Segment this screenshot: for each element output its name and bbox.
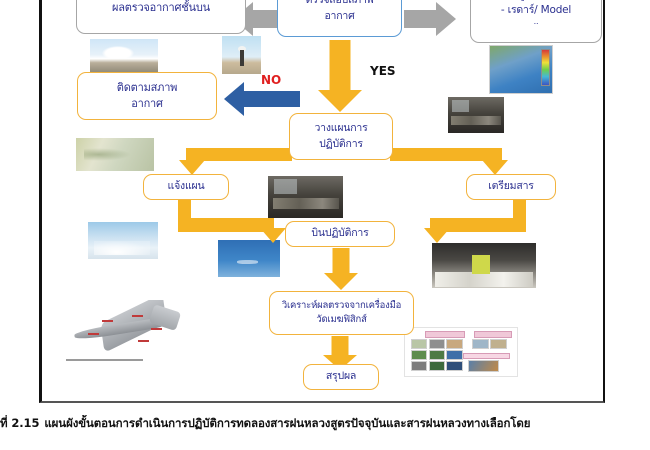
node-monitor-weather-line-1: ติดตามสภาพ xyxy=(117,80,177,96)
terrain-map-photo xyxy=(76,138,154,171)
cloud-sky-photo xyxy=(88,222,158,259)
label-yes: YES xyxy=(370,64,396,78)
node-announce-plan-line-1: แจ้งแผน xyxy=(168,179,205,194)
arrow-flight-to-analyze xyxy=(323,248,359,290)
node-prepare-agent[interactable]: เตรียมสาร xyxy=(466,174,556,200)
node-plan-operation-line-1: วางแผนการ xyxy=(314,121,367,136)
node-monitor-weather[interactable]: ติดตามสภาพ อากาศ xyxy=(77,72,217,120)
equipment-desk-photo xyxy=(448,97,504,133)
radar-color-scale xyxy=(541,49,550,86)
figure-page: ผลตรวจอากาศชั้นบน ตรวจสอบสภาพ อากาศ ข้อม… xyxy=(0,0,650,450)
balloon-release-photo xyxy=(222,36,261,74)
node-analyze-results-line-2: วัดเมฆฟิสิกส์ xyxy=(316,313,366,327)
node-analyze-results-line-1: วิเคราะห์ผลตรวจจากเครื่องมือ xyxy=(282,299,401,313)
node-plan-operation[interactable]: วางแผนการ ปฏิบัติการ xyxy=(289,113,393,160)
figure-caption: ที่ 2.15แผนผังขั้นตอนการดำเนินการปฏิบัติ… xyxy=(0,415,650,433)
node-image-data-line-3: .. xyxy=(534,19,539,25)
node-prepare-agent-line-1: เตรียมสาร xyxy=(488,179,533,194)
node-check-weather[interactable]: ตรวจสอบสภาพ อากาศ xyxy=(277,0,402,37)
node-summary[interactable]: สรุปผล xyxy=(303,364,379,390)
arrow-announce-to-flight xyxy=(178,200,286,246)
node-flight-operation-line-1: บินปฏิบัติการ xyxy=(311,226,368,241)
node-check-weather-line-2: อากาศ xyxy=(324,9,354,24)
arrow-yes-down xyxy=(318,40,362,112)
arrow-no-left xyxy=(224,82,300,116)
node-flight-operation[interactable]: บินปฏิบัติการ xyxy=(285,221,395,247)
node-upper-air-result[interactable]: ผลตรวจอากาศชั้นบน xyxy=(76,0,246,34)
node-image-data[interactable]: ข้อมูลภาพถ่าย - เรดาร์/ Model .. xyxy=(470,0,602,43)
agent-loading-photo xyxy=(432,243,536,288)
node-monitor-weather-line-2: อากาศ xyxy=(131,96,163,112)
radar-map-photo xyxy=(489,45,553,94)
node-analyze-results[interactable]: วิเคราะห์ผลตรวจจากเครื่องมือ วัดเมฆฟิสิก… xyxy=(269,291,414,335)
aircraft-diagram-image xyxy=(52,300,190,364)
node-announce-plan[interactable]: แจ้งแผน xyxy=(143,174,229,200)
arrow-to-image-data xyxy=(404,2,456,36)
arrow-prepare-to-flight xyxy=(420,200,526,246)
node-upper-air-result-line-1: ผลตรวจอากาศชั้นบน xyxy=(112,0,210,16)
node-check-weather-line-1: ตรวจสอบสภาพ xyxy=(306,0,374,9)
node-plan-operation-line-2: ปฏิบัติการ xyxy=(319,137,363,152)
results-collage-image xyxy=(404,327,518,377)
node-summary-line-1: สรุปผล xyxy=(326,369,356,384)
label-no: NO xyxy=(261,73,281,87)
aircraft-caption-rule xyxy=(66,359,143,361)
sky-mountain-photo xyxy=(90,39,158,73)
figure-caption-text: แผนผังขั้นตอนการดำเนินการปฏิบัติการทดลอง… xyxy=(44,416,530,430)
figure-caption-number: ที่ 2.15 xyxy=(0,416,39,430)
